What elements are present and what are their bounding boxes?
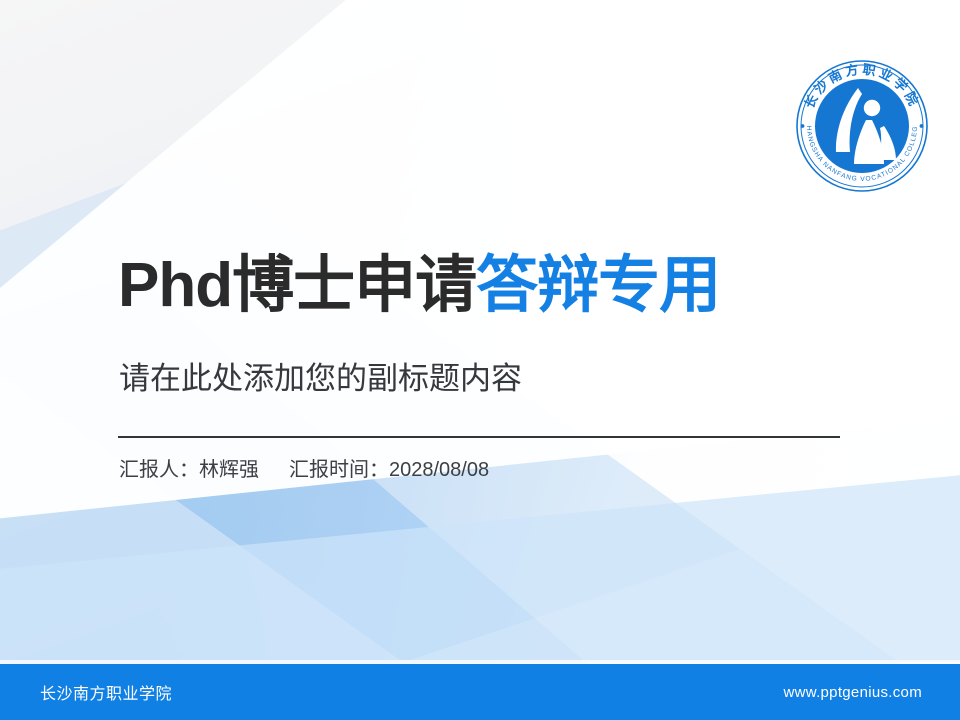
byline-date: 汇报时间：2028/08/08	[289, 453, 489, 482]
title-divider-rule	[118, 436, 840, 438]
slide-title: Phd博士申请答辩专用	[118, 253, 720, 318]
footer-website-url: www.pptgenius.com	[784, 684, 923, 701]
university-seal-logo: 长沙南方职业学院 CHANGSHA NANFANG VOCATIONAL COL…	[788, 52, 936, 200]
slide-byline: 汇报人：林辉强 汇报时间：2028/08/08	[119, 453, 489, 482]
footer-school-name: 长沙南方职业学院	[40, 680, 172, 704]
slide-subtitle: 请在此处添加您的副标题内容	[119, 353, 522, 398]
slide-title-accent-part: 答辩专用	[476, 251, 720, 320]
byline-presenter: 汇报人：林辉强	[119, 453, 259, 482]
slide-footer: 长沙南方职业学院 www.pptgenius.com	[0, 664, 960, 720]
slide-title-dark-part: Phd博士申请	[118, 251, 476, 320]
presentation-slide: 长沙南方职业学院 CHANGSHA NANFANG VOCATIONAL COL…	[0, 0, 960, 720]
